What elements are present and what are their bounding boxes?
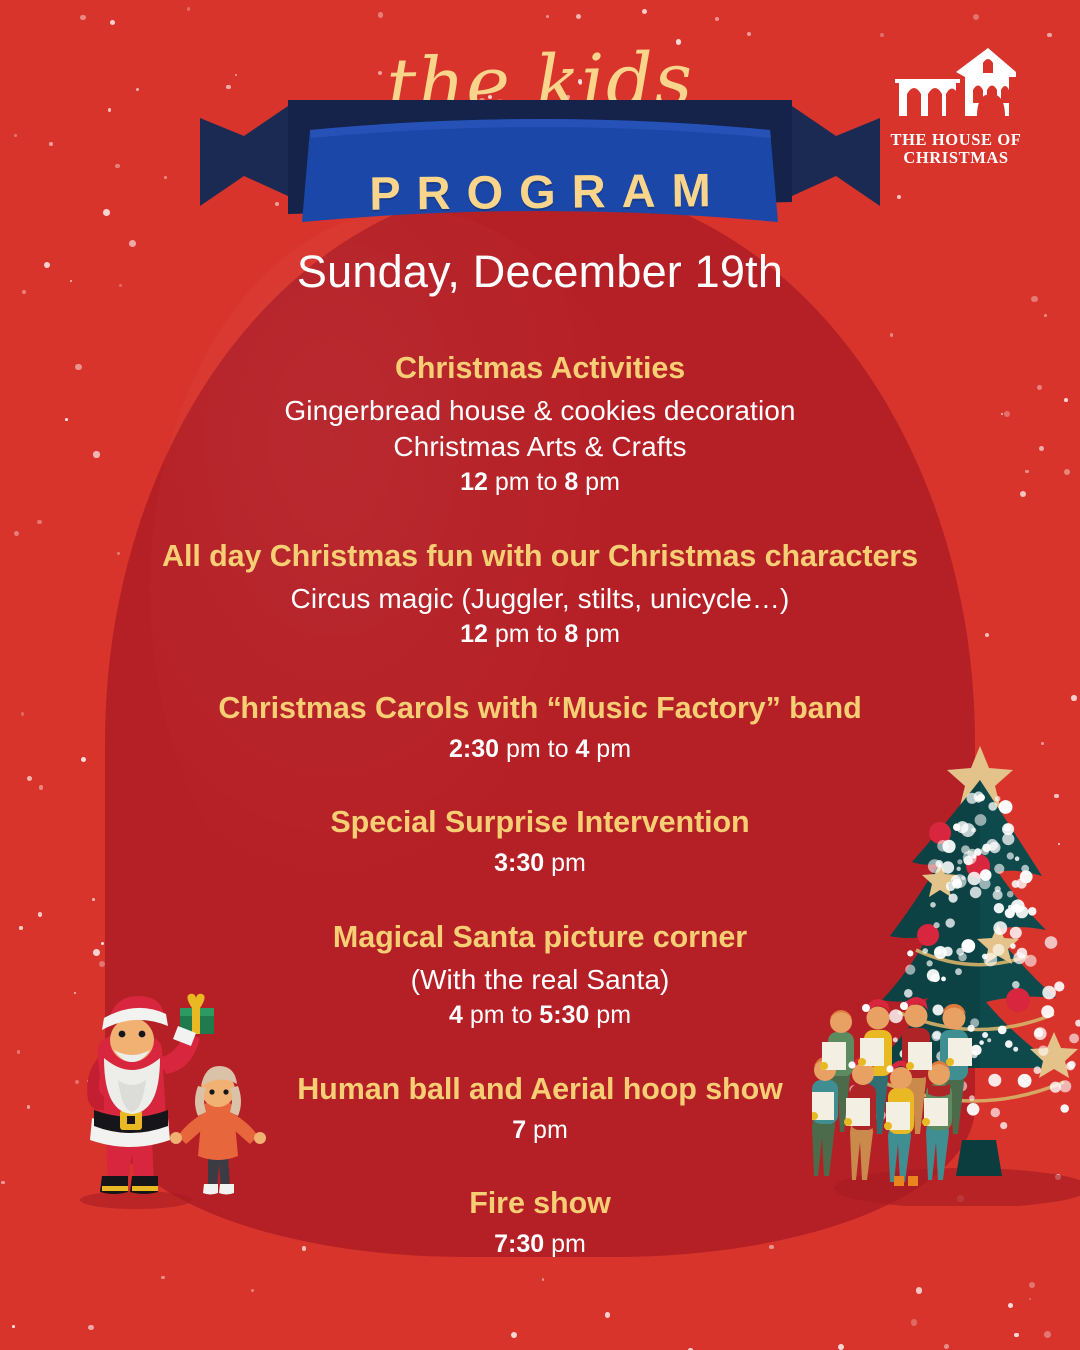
poster-canvas: THE HOUSE OF CHRISTMAS the kids PROGRAM …: [0, 0, 1080, 1350]
schedule-item-title: Christmas Carols with “Music Factory” ba…: [0, 691, 1080, 727]
santa-illustration: [70, 988, 282, 1210]
schedule-item-title: Christmas Activities: [0, 351, 1080, 387]
schedule-item-title: All day Christmas fun with our Christmas…: [0, 539, 1080, 575]
schedule-item-subtitle: Christmas Arts & Crafts: [0, 429, 1080, 465]
program-date: Sunday, December 19th: [0, 248, 1080, 295]
schedule-item-time: 12 pm to 8 pm: [0, 618, 1080, 651]
program-title: PROGRAM: [0, 158, 1080, 224]
child-figure: [170, 1066, 266, 1195]
schedule-item-time: 12 pm to 8 pm: [0, 466, 1080, 499]
schedule-item-time: 7:30 pm: [0, 1228, 1080, 1261]
title-banner: the kids PROGRAM: [0, 24, 1080, 234]
gift-icon: [180, 994, 214, 1034]
christmas-tree-illustration: [812, 736, 1080, 1206]
schedule-item-subtitle: Circus magic (Juggler, stilts, unicycle……: [0, 581, 1080, 617]
schedule-item: All day Christmas fun with our Christmas…: [0, 539, 1080, 651]
carolers-group: [812, 997, 972, 1186]
schedule-item-subtitle: Gingerbread house & cookies decoration: [0, 393, 1080, 429]
schedule-item: Christmas ActivitiesGingerbread house & …: [0, 351, 1080, 499]
